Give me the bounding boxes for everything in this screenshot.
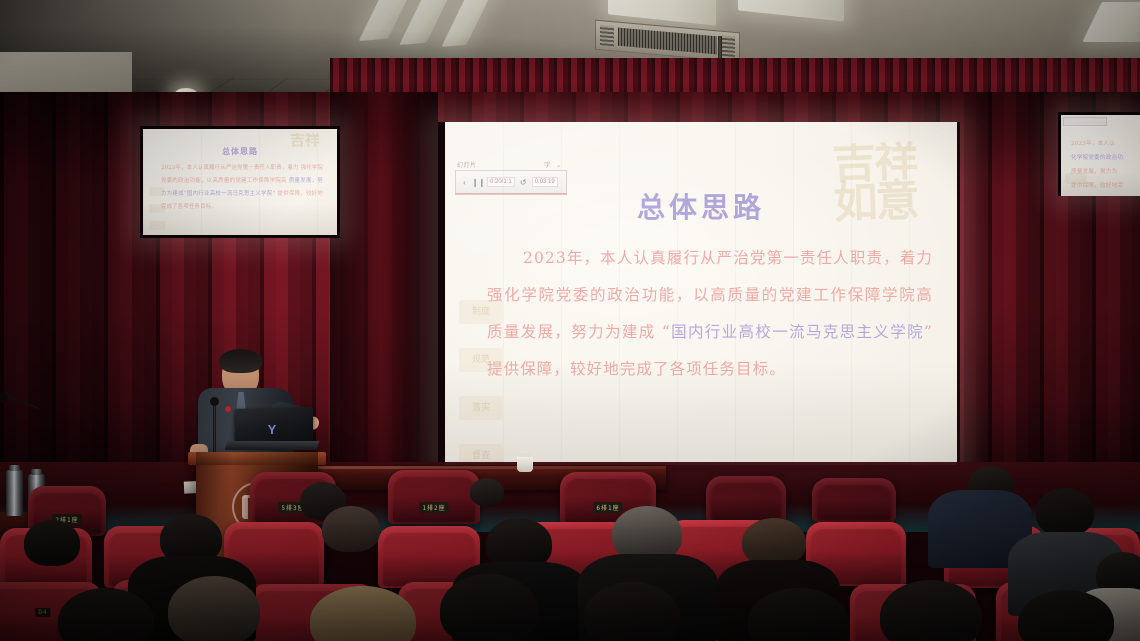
curtain-dark-fold <box>330 92 438 472</box>
slide-line-2: 强化学院党委的政治功能，以高质量的党建工作保障学院高 <box>487 286 933 304</box>
left-wall-projection-screen: 吉祥 总体思路 2023年，本人认真履行从严治党第一责任人职责，着力 强化学院党… <box>140 126 340 238</box>
slide-body-text: 2023年，本人认真履行从严治党第一责任人职责，着力 强化学院党委的政治功能，以… <box>487 240 933 388</box>
speaker-hair <box>219 349 262 373</box>
right-screen-slide-body: 2023年，本人认 化学院党委的政治功 质量发展，努力为 提供保障，较好地完 <box>1071 137 1138 193</box>
slide-line-3a: 质量发展，努力为建成 “ <box>487 323 671 341</box>
player-toolbar-label: 幻灯片 <box>457 160 477 169</box>
audience-member-head <box>168 576 260 641</box>
slide-line-1: 2023年，本人认真履行从严治党第一责任人职责，着力 <box>523 249 933 267</box>
audience-member-head <box>742 518 806 566</box>
slide-line-3-highlight: 国内行业高校一流马克思主义学院 <box>671 323 924 341</box>
laptop-brand-logo: Y <box>268 422 276 437</box>
boom-microphone-stand <box>0 390 40 436</box>
podium-microphone <box>213 404 216 452</box>
seat-number-plaque: 6排1座 <box>593 502 622 513</box>
right-wall-projection-screen: 2023年，本人认 化学院党委的政治功 质量发展，努力为 提供保障，较好地完 <box>1058 112 1140 196</box>
audience-member-head <box>322 506 380 552</box>
player-toolbar-right-label: 字 ⌄ <box>544 160 563 169</box>
seat-number-plaque: 1排2座 <box>419 502 448 513</box>
slide-decor-block: 落实 <box>459 396 503 420</box>
microphone-head <box>0 392 8 402</box>
slide-decor-block <box>1065 173 1087 184</box>
slide-decor-block: 规范 <box>459 348 503 372</box>
left-screen-slide-title: 总体思路 <box>143 146 337 157</box>
slide-decor-block: 制度 <box>459 300 503 324</box>
audience-member-head <box>440 574 538 641</box>
slide-decor-block <box>149 221 165 230</box>
right-line-2: 化学院党委的政治功 <box>1071 151 1138 165</box>
theater-seat[interactable] <box>706 476 786 522</box>
auditorium-photo-scene: 吉祥 总体思路 2023年，本人认真履行从严治党第一责任人职责，着力 强化学院党… <box>0 0 1140 641</box>
slide-decor-block <box>149 204 165 213</box>
slide-decor-block <box>149 187 165 196</box>
theater-seat[interactable] <box>812 478 896 522</box>
presentation-player-toolbar-mini[interactable] <box>1063 117 1107 126</box>
slide-watermark-seal: 吉祥 <box>290 133 334 147</box>
laptop-lid: Y <box>235 407 313 445</box>
left-screen-slide-body: 2023年，本人认真履行从严治党第一责任人职责，着力 强化学院党委的政治功能，以… <box>161 162 323 214</box>
left-line-1: 2023年，本人认真履行从严治党第一责任人职责，着力 <box>161 165 299 171</box>
audience-member-head <box>584 582 680 641</box>
theater-seat[interactable]: 1排2座 <box>388 470 480 524</box>
seat-number-plaque: D4 <box>35 608 50 617</box>
slide-line-3c: ” <box>924 323 933 341</box>
right-line-1: 2023年，本人认 <box>1071 137 1138 151</box>
laptop-base <box>225 441 320 450</box>
main-projection-screen: 吉祥如意 幻灯片 字 ⌄ ‹ ❙❙ 0:20/1:1 ↺ 0:03:19 总体思… <box>438 122 960 470</box>
audience-member-head <box>470 478 504 506</box>
audience-member-head <box>24 520 80 566</box>
audience-member-head <box>1036 488 1094 536</box>
slide-line-4: 提供保障，较好地完成了各项任务目标。 <box>487 360 786 378</box>
presenter-laptop[interactable]: Y <box>226 408 312 452</box>
audience-seating-area: 5排3座 1排2座 6排1座 2排1座 D4 <box>0 470 1140 641</box>
slide-title: 总体思路 <box>445 186 957 226</box>
